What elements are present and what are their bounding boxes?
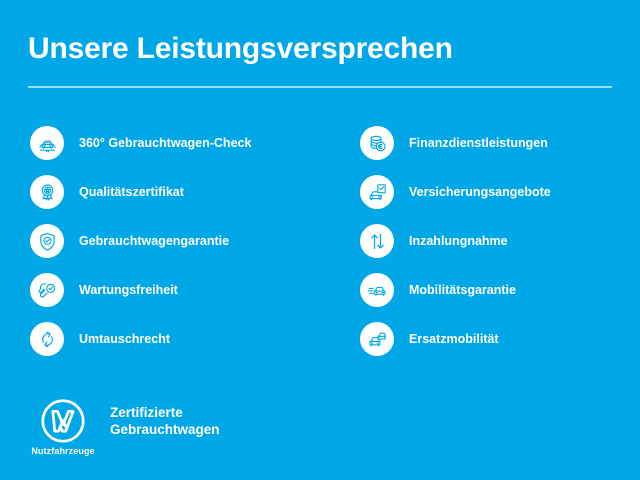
promise-label: Versicherungsangebote [409, 184, 551, 200]
footer-headline: Zertifizierte Gebrauchtwagen [110, 404, 220, 438]
shield-check-icon [30, 224, 64, 258]
promises-column-left: 360° Gebrauchtwagen-Check Qualitätszerti… [30, 126, 320, 371]
promise-label: Qualitätszertifikat [79, 184, 184, 200]
promise-label: Inzahlungnahme [409, 233, 508, 249]
vw-roundel-logo [40, 398, 86, 444]
promise-item-finanzdienstleistungen[interactable]: Finanzdienstleistungen [360, 126, 640, 160]
slide-canvas: Unsere Leistungsversprechen 360° Gebrauc… [0, 0, 640, 480]
vw-logo-block: Nutzfahrzeuge [30, 398, 96, 456]
promise-label: 360° Gebrauchtwagen-Check [79, 135, 251, 151]
promise-item-inzahlungnahme[interactable]: Inzahlungnahme [360, 224, 640, 258]
promise-label: Umtauschrecht [79, 331, 170, 347]
arrows-up-down-icon [360, 224, 394, 258]
promise-item-wartungsfreiheit[interactable]: Wartungsfreiheit [30, 273, 320, 307]
vw-sub-brand: Nutzfahrzeuge [31, 446, 94, 456]
footer-headline-line-2: Gebrauchtwagen [110, 421, 220, 438]
promise-label: Wartungsfreiheit [79, 282, 178, 298]
exchange-arrows-icon [30, 322, 64, 356]
footer-brand-block: Nutzfahrzeuge Zertifizierte Gebrauchtwag… [30, 398, 220, 456]
title-divider [28, 86, 612, 88]
promise-item-umtauschrecht[interactable]: Umtauschrecht [30, 322, 320, 356]
promise-label: Gebrauchtwagengarantie [79, 233, 229, 249]
page-title: Unsere Leistungsversprechen [28, 31, 453, 67]
car-check-360-icon [30, 126, 64, 160]
wrench-check-icon [30, 273, 64, 307]
promises-column-right: Finanzdienstleistungen Versicherungsange… [360, 126, 640, 371]
promise-item-ersatzmobilitaet[interactable]: Ersatzmobilität [360, 322, 640, 356]
car-motion-icon [360, 273, 394, 307]
two-cars-icon [360, 322, 394, 356]
promise-label: Mobilitätsgarantie [409, 282, 516, 298]
promise-label: Ersatzmobilität [409, 331, 499, 347]
coins-euro-icon [360, 126, 394, 160]
award-medal-icon [30, 175, 64, 209]
promise-item-mobilitaetsgarantie[interactable]: Mobilitätsgarantie [360, 273, 640, 307]
promise-item-gebrauchtwagengarantie[interactable]: Gebrauchtwagengarantie [30, 224, 320, 258]
promise-item-versicherungsangebote[interactable]: Versicherungsangebote [360, 175, 640, 209]
footer-headline-line-1: Zertifizierte [110, 404, 220, 421]
promise-item-qualitaetszertifikat[interactable]: Qualitätszertifikat [30, 175, 320, 209]
promise-label: Finanzdienstleistungen [409, 135, 548, 151]
promise-item-gebrauchtwagen-check[interactable]: 360° Gebrauchtwagen-Check [30, 126, 320, 160]
car-document-icon [360, 175, 394, 209]
